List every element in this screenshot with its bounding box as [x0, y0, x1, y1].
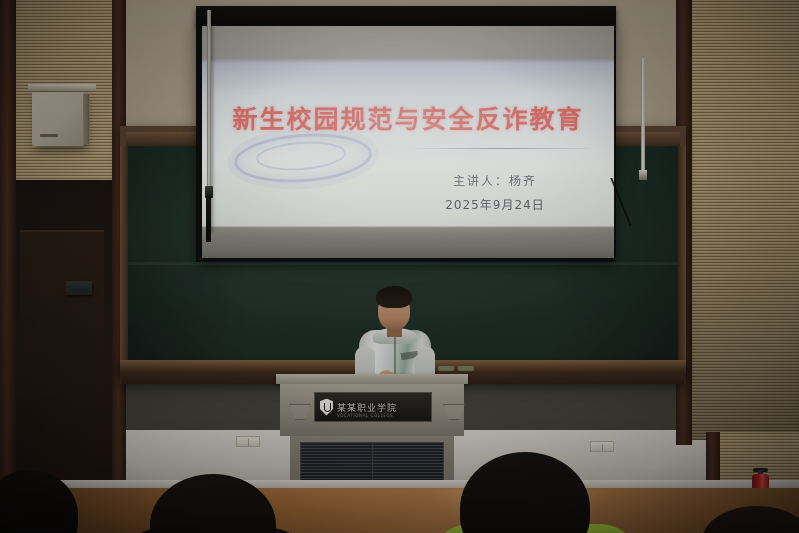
presenter-hair: [376, 286, 412, 308]
pa-speaker-logo: [40, 134, 58, 137]
podium-institution-subline: VOCATIONAL COLLEGE: [337, 413, 393, 418]
wall-box-icon: [66, 281, 92, 295]
stage-floor: [0, 488, 799, 533]
slide-title: 新生校园规范与安全反诈教育: [202, 100, 614, 136]
chalk-piece: [458, 366, 474, 371]
lecture-hall-photograph: 新生校园规范与安全反诈教育 主讲人：杨齐 2025年9月24日: [0, 0, 799, 533]
chalkboard-side-right: [678, 146, 686, 360]
chalkboard-divider: [126, 262, 680, 265]
slide-divider-rule: [414, 148, 588, 149]
screen-pull-rod-right: [641, 58, 645, 176]
screen-rod-joint: [639, 170, 647, 180]
podium-institution-name: 某某职业学院: [337, 401, 397, 414]
projector-screen: 新生校园规范与安全反诈教育 主讲人：杨齐 2025年9月24日: [202, 26, 614, 258]
chalkboard-side-left: [120, 146, 128, 360]
podium-name-plate: 某某职业学院 VOCATIONAL COLLEGE: [314, 392, 432, 422]
college-shield-icon: [320, 399, 333, 416]
panel-shading-right: [690, 0, 799, 440]
wall-panel-right: [690, 0, 799, 440]
podium-emblem-left-icon: [289, 404, 311, 420]
pa-speaker-icon: [32, 92, 84, 146]
screen-rod-tip: [206, 196, 211, 242]
speaker-bracket: [28, 84, 96, 91]
wall-outlet-left-icon: [236, 436, 260, 447]
slide-date-line: 2025年9月24日: [380, 196, 610, 213]
podium-emblem-right-icon: [443, 404, 465, 420]
podium-top-surface: [276, 374, 468, 384]
podium-front-face: 某某职业学院 VOCATIONAL COLLEGE: [280, 384, 464, 436]
wall-outlet-right-icon: [590, 441, 614, 452]
door-frame-left-outer: [0, 0, 16, 533]
presentation-slide: 新生校园规范与安全反诈教育 主讲人：杨齐 2025年9月24日: [202, 26, 614, 258]
slide-presenter-line: 主讲人：杨齐: [380, 172, 610, 189]
